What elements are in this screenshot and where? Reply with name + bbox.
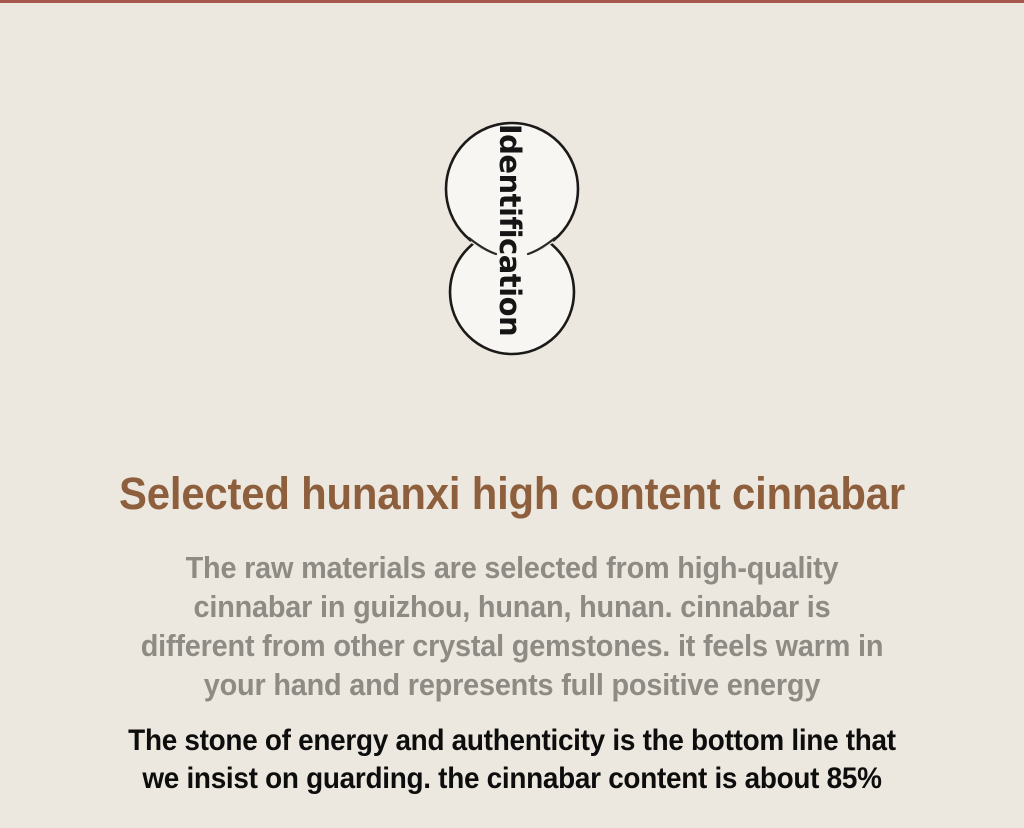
product-detail-banner: Identification Selected hunanxi high con…	[0, 0, 1024, 828]
description-line: different from other crystal gemstones. …	[36, 626, 988, 665]
guarantee-line: we insist on guarding. the cinnabar cont…	[36, 760, 988, 798]
description-line: your hand and represents full positive e…	[36, 665, 988, 704]
identification-emblem: Identification	[0, 104, 1024, 356]
gourd-calabash-outline-icon	[412, 104, 612, 356]
guarantee-line: The stone of energy and authenticity is …	[36, 722, 988, 760]
description-paragraph: The raw materials are selected from high…	[36, 548, 988, 704]
guarantee-statement: The stone of energy and authenticity is …	[36, 722, 988, 798]
top-divider-rule	[0, 0, 1024, 3]
description-line: The raw materials are selected from high…	[36, 548, 988, 587]
page-title: Selected hunanxi high content cinnabar	[36, 468, 988, 520]
description-line: cinnabar in guizhou, hunan, hunan. cinna…	[36, 587, 988, 626]
